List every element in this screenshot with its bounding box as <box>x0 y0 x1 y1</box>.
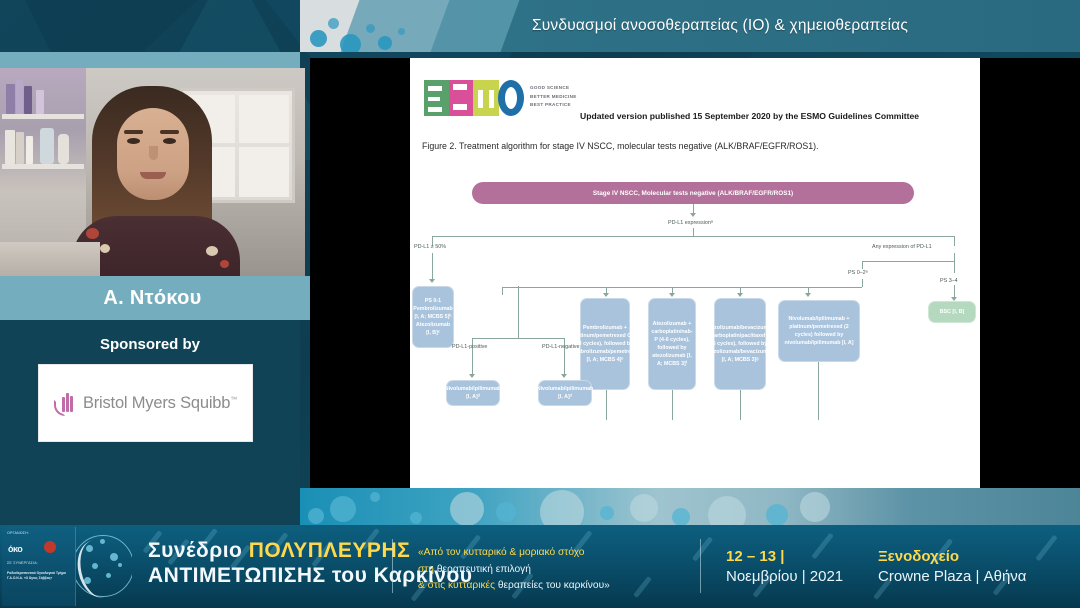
tagline-line3-part1: & στις κυτταρικές <box>418 580 498 591</box>
flow-node-nivolumab-ipilimumab-platinum: Nivolumab/ipilimumab + platinum/pemetrex… <box>778 300 860 362</box>
webcam-desk <box>0 242 100 276</box>
header-bar: Συνδυασμοί ανοσοθεραπείας (ΙΟ) & χημειοθ… <box>300 0 1080 52</box>
esko-logo-dot <box>44 541 56 553</box>
organizer-label: ΟΡΓΑΝΩΣΗ: <box>7 531 29 535</box>
flow-node-nivolumab-ipilimumab-neg: Nivolumab/ipilimumab [I, A]ᵈ <box>538 380 592 406</box>
bubbles-decoration-strip <box>300 488 1080 525</box>
bristol-myers-squibb-icon <box>54 390 76 416</box>
flow-label-pdl1-positive: PD-L1-positive <box>452 344 487 350</box>
organizer-logos: ΟΡΓΑΝΩΣΗ: όκο ΣΕ ΣΥΝΕΡΓΑΣΙΑ: Ραδιοθεραπε… <box>2 527 76 606</box>
screen: Συνδυασμοί ανοσοθεραπείας (ΙΟ) & χημειοθ… <box>0 0 1080 608</box>
sponsor-logo-card: Bristol Myers Squibb™ <box>38 364 253 442</box>
esmo-tagline: GOOD SCIENCE BETTER MEDICINE BEST PRACTI… <box>530 78 577 110</box>
title-line1-part1: Συνέδριο <box>148 539 249 562</box>
conference-venue: Ξενοδοχείο Crowne Plaza | Αθήνα <box>878 547 1026 588</box>
partners-text: Ραδιοθεραπευτικό Ογκολογικό Τμήμα Γ.Α.Ο.… <box>7 571 75 581</box>
presentation-slide: GOOD SCIENCE BETTER MEDICINE BEST PRACTI… <box>410 58 980 488</box>
sponsor-panel: Sponsored by Bristol Myers Squibb™ <box>0 320 300 525</box>
flow-node-nivolumab-ipilimumab-pos: Nivolumab/ipilimumab [I, A]ᵈ <box>446 380 500 406</box>
esko-logo: όκο <box>8 539 56 555</box>
dates-line2: Νοεμβρίου | 2021 <box>726 567 843 587</box>
flow-root-node: Stage IV NSCC, Molecular tests negative … <box>472 182 914 204</box>
flow-decision-label: PD-L1 expressionᵃ <box>668 220 713 226</box>
webcam-video[interactable] <box>0 68 305 276</box>
flow-label-any-expression: Any expression of PD-L1 <box>872 244 932 250</box>
flow-label-ps-0-2: PS 0–2ᵃ <box>848 270 868 276</box>
flow-node-bsc: BSC [I, B] <box>928 301 976 323</box>
tagline-line1: «Από τον κυτταρικό & μοριακό στόχο <box>418 545 610 562</box>
esmo-logo-mark <box>424 78 524 118</box>
speaker-name: Α. Ντόκου <box>0 276 305 320</box>
partners-label: ΣΕ ΣΥΝΕΡΓΑΣΙΑ: <box>7 561 38 565</box>
venue-line2: Crowne Plaza | Αθήνα <box>878 567 1026 587</box>
trademark-mark: ™ <box>230 396 237 403</box>
header-title: Συνδυασμοί ανοσοθεραπείας (ΙΟ) & χημειοθ… <box>300 0 1080 52</box>
title-line2-part1: ΑΝΤΙΜΕΤΩΠΙΣΗΣ <box>148 564 332 587</box>
flow-node-atezolizumab-bevacizumab: Atezolizumab/bevacizumab + carboplatin/p… <box>714 298 766 390</box>
figure-caption: Figure 2. Treatment algorithm for stage … <box>422 141 819 151</box>
conference-banner: ΟΡΓΑΝΩΣΗ: όκο ΣΕ ΣΥΝΕΡΓΑΣΙΑ: Ραδιοθεραπε… <box>0 525 1080 608</box>
esmo-logo: GOOD SCIENCE BETTER MEDICINE BEST PRACTI… <box>424 78 577 118</box>
conference-tagline: «Από τον κυτταρικό & μοριακό στόχο στη θ… <box>418 545 610 595</box>
tagline-line3-part2: θεραπείες του καρκίνου» <box>498 580 610 591</box>
slide-update-note: Updated version published 15 September 2… <box>580 111 919 121</box>
title-line1-part2: ΠΟΛΥΠΛΕΥΡΗΣ <box>249 539 411 562</box>
tagline-line2-part1: στη <box>418 564 437 575</box>
sponsored-by-label: Sponsored by <box>0 336 300 353</box>
flow-label-ps-3-4: PS 3–4 <box>940 278 958 284</box>
flow-node-pembrolizumab-platinum: Pembrolizumab + platinum/pemetrexed ChT … <box>580 298 630 390</box>
conference-dates: 12 – 13 | Νοεμβρίου | 2021 <box>726 547 843 588</box>
slide-viewer[interactable]: GOOD SCIENCE BETTER MEDICINE BEST PRACTI… <box>310 58 1080 488</box>
venue-line1: Ξενοδοχείο <box>878 547 1026 567</box>
left-accent-slab <box>0 52 300 68</box>
cell-graphic-logo <box>76 529 132 605</box>
flow-label-pdl1-50: PD-L1 ≥ 50% <box>414 244 446 250</box>
flow-node-ps01-pembrolizumab: PS 0-1 Pembrolizumab [I, A; MCBS 5]ᵇ Ate… <box>412 286 454 348</box>
tagline-line2-part2: θεραπευτική επιλογή <box>437 564 531 575</box>
dates-line1: 12 – 13 | <box>726 547 843 567</box>
sponsor-logo-text: Bristol Myers Squibb™ <box>83 394 237 413</box>
treatment-algorithm-flowchart: Stage IV NSCC, Molecular tests negative … <box>410 158 980 488</box>
flow-node-atezolizumab-carboplatin: Atezolizumab + carboplatin/nab-P (4-6 cy… <box>648 298 696 390</box>
esko-logo-text: όκο <box>8 544 22 554</box>
speaker-nameplate: Α. Ντόκου <box>0 276 305 320</box>
flow-label-pdl1-negative: PD-L1-negative <box>542 344 579 350</box>
